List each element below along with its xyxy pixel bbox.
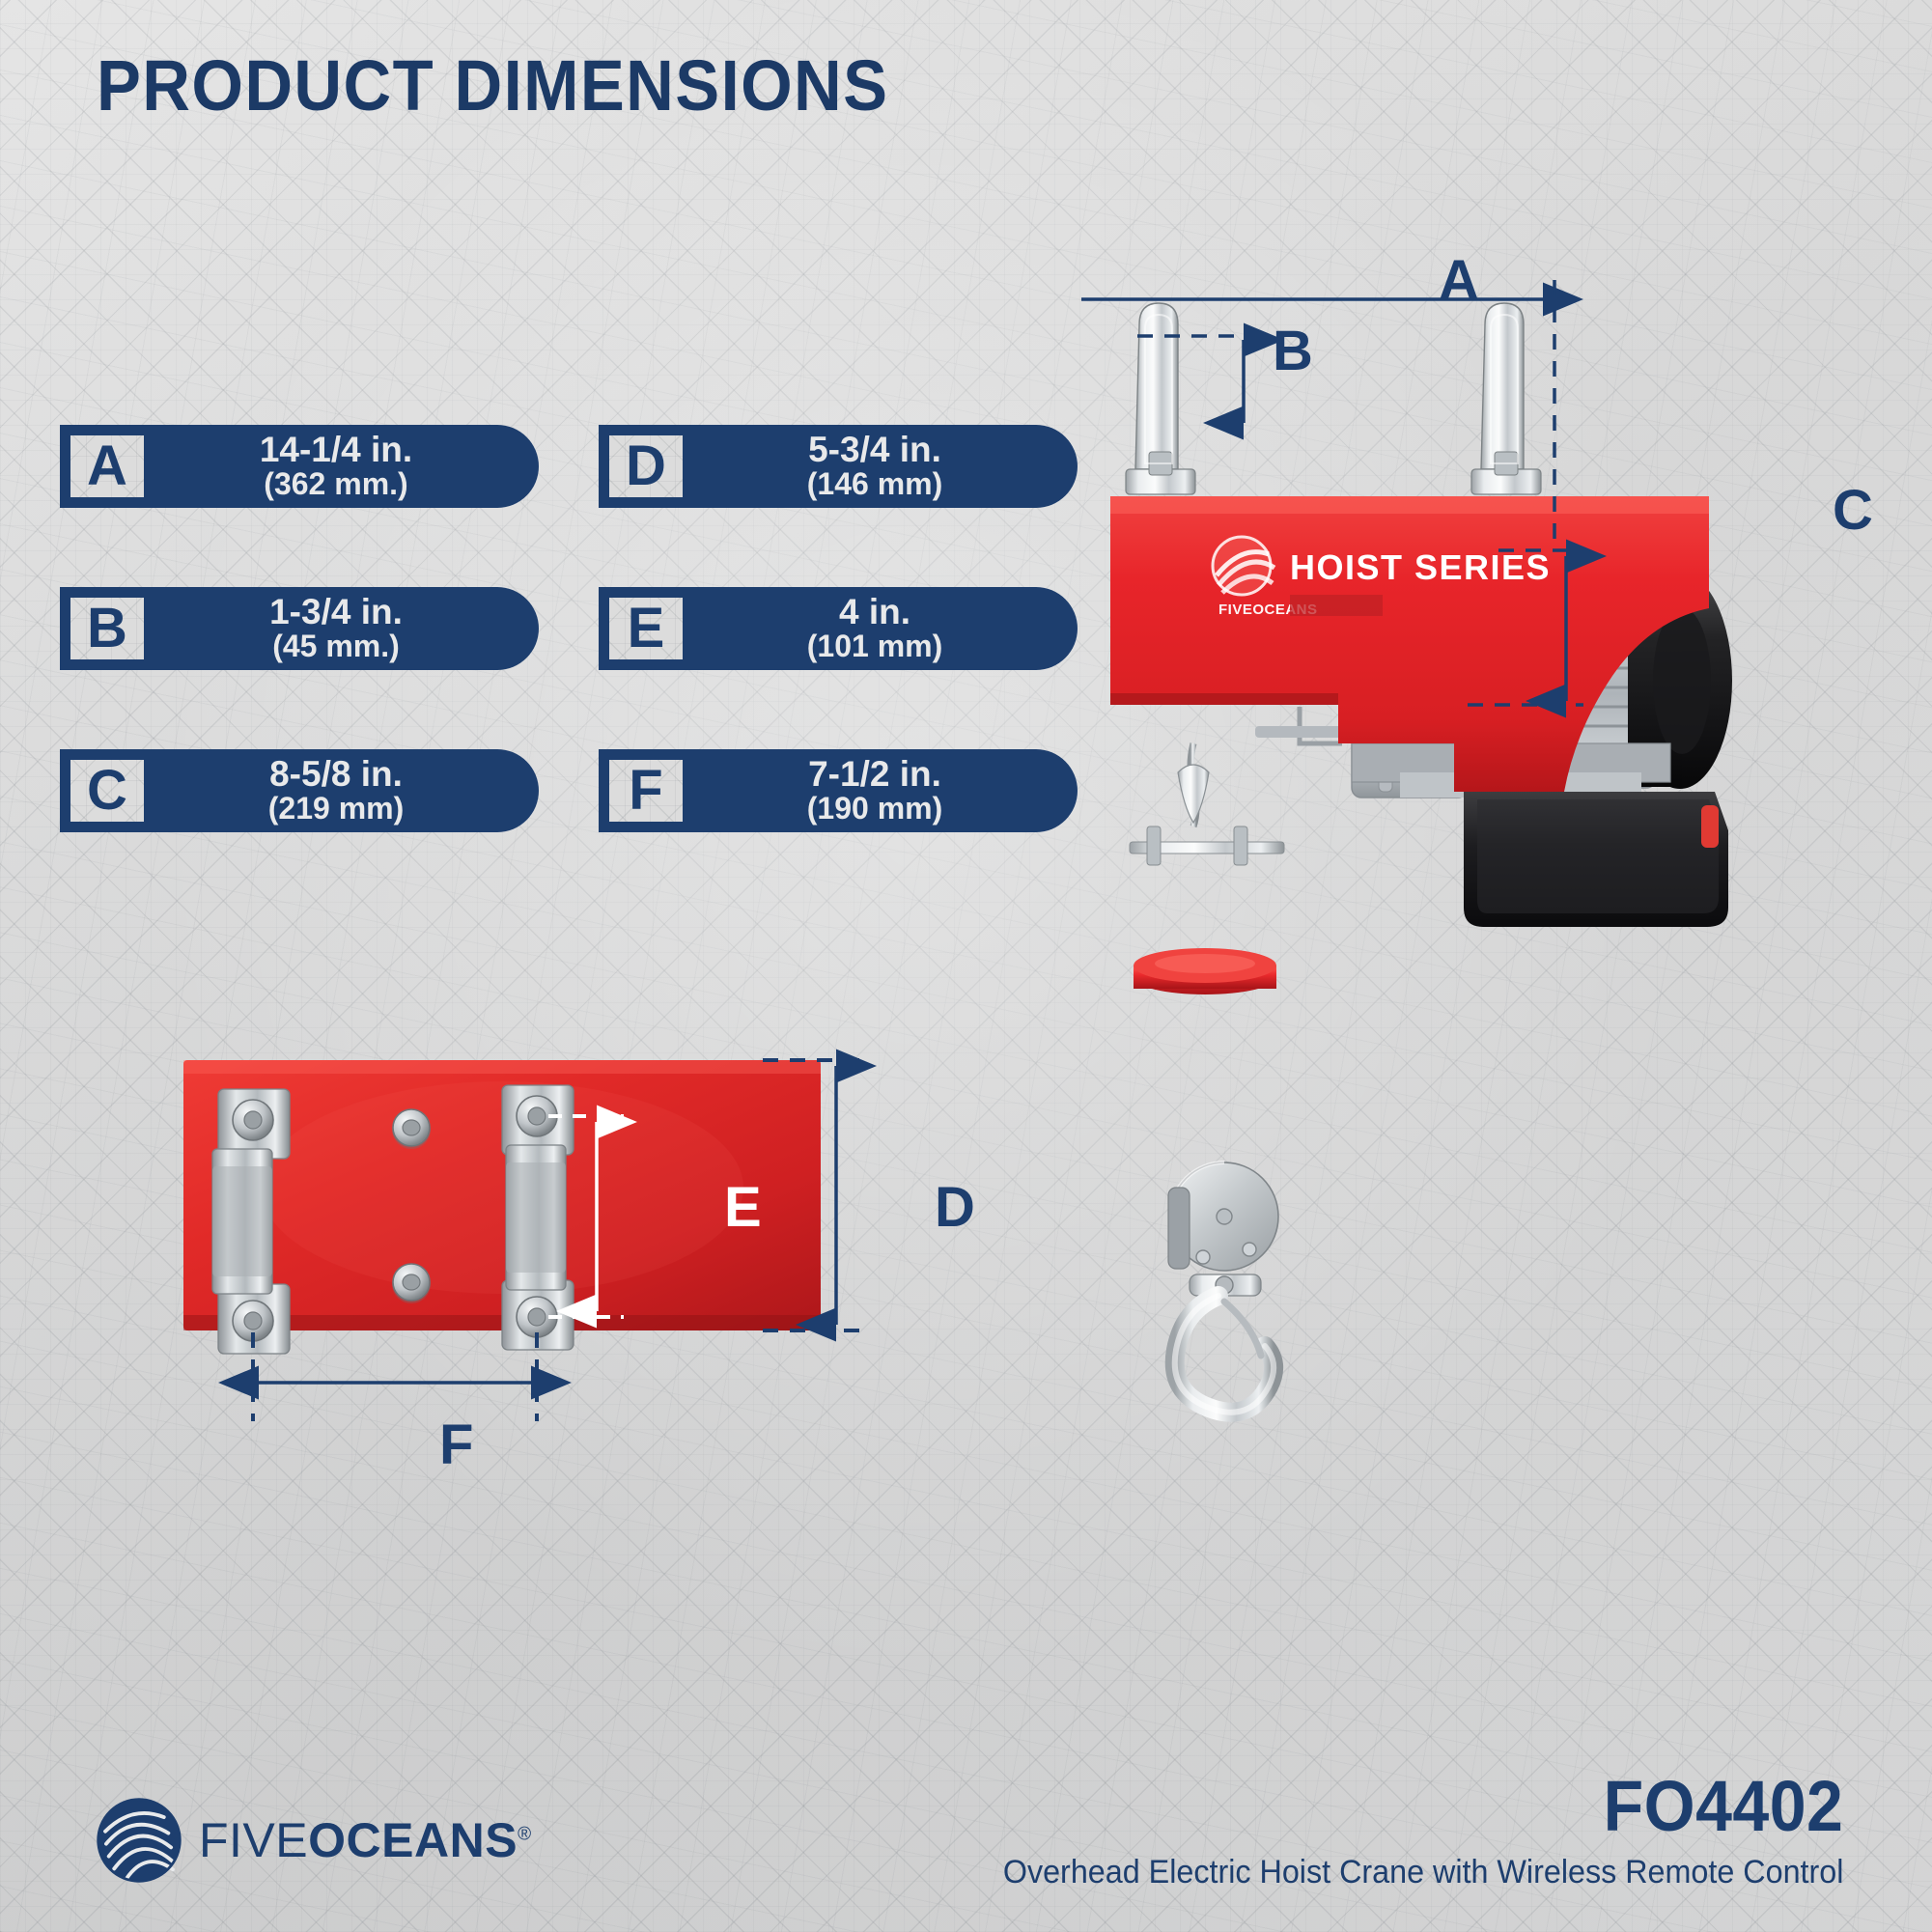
dimension-letter-box-d: D <box>604 431 687 502</box>
dimension-badge-b: B 1-3/4 in. (45 mm.) <box>60 587 539 670</box>
dimension-badge-d: D 5-3/4 in. (146 mm) <box>599 425 1078 508</box>
dimension-mm-e: (101 mm) <box>807 630 943 663</box>
dimension-value-c: 8-5/8 in. (219 mm) <box>149 749 539 832</box>
dimension-inches-e: 4 in. <box>839 594 910 630</box>
dimension-letter-box-f: F <box>604 755 687 826</box>
lifting-hook <box>1175 1296 1274 1413</box>
dimension-mm-f: (190 mm) <box>807 793 943 826</box>
five-oceans-globe-icon <box>95 1796 183 1885</box>
product-sku: FO4402 <box>1603 1765 1843 1847</box>
page-title: PRODUCT DIMENSIONS <box>97 50 888 122</box>
dimension-value-a: 14-1/4 in. (362 mm.) <box>149 425 539 508</box>
callout-letter-d: D <box>935 1180 975 1236</box>
dimension-value-f: 7-1/2 in. (190 mm) <box>687 749 1078 832</box>
dimension-letter-box-e: E <box>604 593 687 664</box>
callout-letter-b: B <box>1273 323 1313 379</box>
callout-letter-a: A <box>1439 253 1479 309</box>
brand-wordmark-second: OCEANS <box>308 1813 518 1867</box>
dimension-badge-a: A 14-1/4 in. (362 mm.) <box>60 425 539 508</box>
dimension-letter-b: B <box>87 601 127 657</box>
dimension-value-d: 5-3/4 in. (146 mm) <box>687 425 1078 508</box>
dimension-letter-f: F <box>629 763 662 819</box>
dimension-value-e: 4 in. (101 mm) <box>687 587 1078 670</box>
infographic-page: PRODUCT DIMENSIONS A 14-1/4 in. (362 mm.… <box>0 0 1932 1932</box>
dimension-badge-f: F 7-1/2 in. (190 mm) <box>599 749 1078 832</box>
pulley-block <box>1168 1162 1278 1296</box>
dimension-mm-c: (219 mm) <box>268 793 405 826</box>
registered-trademark-icon: ® <box>518 1824 532 1844</box>
callout-letter-f: F <box>439 1417 473 1473</box>
dimension-mm-d: (146 mm) <box>807 468 943 501</box>
callout-letter-e: E <box>724 1180 762 1236</box>
dimension-letter-c: C <box>87 763 127 819</box>
dimension-letter-e: E <box>628 601 665 657</box>
dimension-inches-a: 14-1/4 in. <box>260 432 412 468</box>
product-description: Overhead Electric Hoist Crane with Wirel… <box>1002 1854 1843 1891</box>
dimension-inches-d: 5-3/4 in. <box>808 432 941 468</box>
dimension-mm-a: (362 mm.) <box>264 468 407 501</box>
dimension-inches-f: 7-1/2 in. <box>808 756 941 793</box>
dimension-inches-c: 8-5/8 in. <box>269 756 403 793</box>
callout-letter-c: C <box>1833 483 1873 539</box>
mounting-bracket-right <box>502 1085 574 1350</box>
dimension-value-b: 1-3/4 in. (45 mm.) <box>149 587 539 670</box>
brand-logo: FIVEOCEANS® <box>95 1796 532 1885</box>
dimension-badge-c: C 8-5/8 in. (219 mm) <box>60 749 539 832</box>
dimension-inches-b: 1-3/4 in. <box>269 594 403 630</box>
dimension-mm-b: (45 mm.) <box>272 630 400 663</box>
brand-wordmark-first: FIVE <box>199 1813 308 1867</box>
dimension-line-f <box>253 1332 537 1421</box>
brand-wordmark: FIVEOCEANS® <box>199 1816 532 1864</box>
dimension-letter-d: D <box>626 438 666 494</box>
dimension-letter-box-c: C <box>66 755 149 826</box>
dimension-letter-box-b: B <box>66 593 149 664</box>
mounting-plate-illustration <box>183 1043 937 1429</box>
dimension-letter-box-a: A <box>66 431 149 502</box>
dimension-letter-a: A <box>87 438 127 494</box>
dimension-badge-e: E 4 in. (101 mm) <box>599 587 1078 670</box>
hoist-dimension-lines <box>1081 232 1931 772</box>
